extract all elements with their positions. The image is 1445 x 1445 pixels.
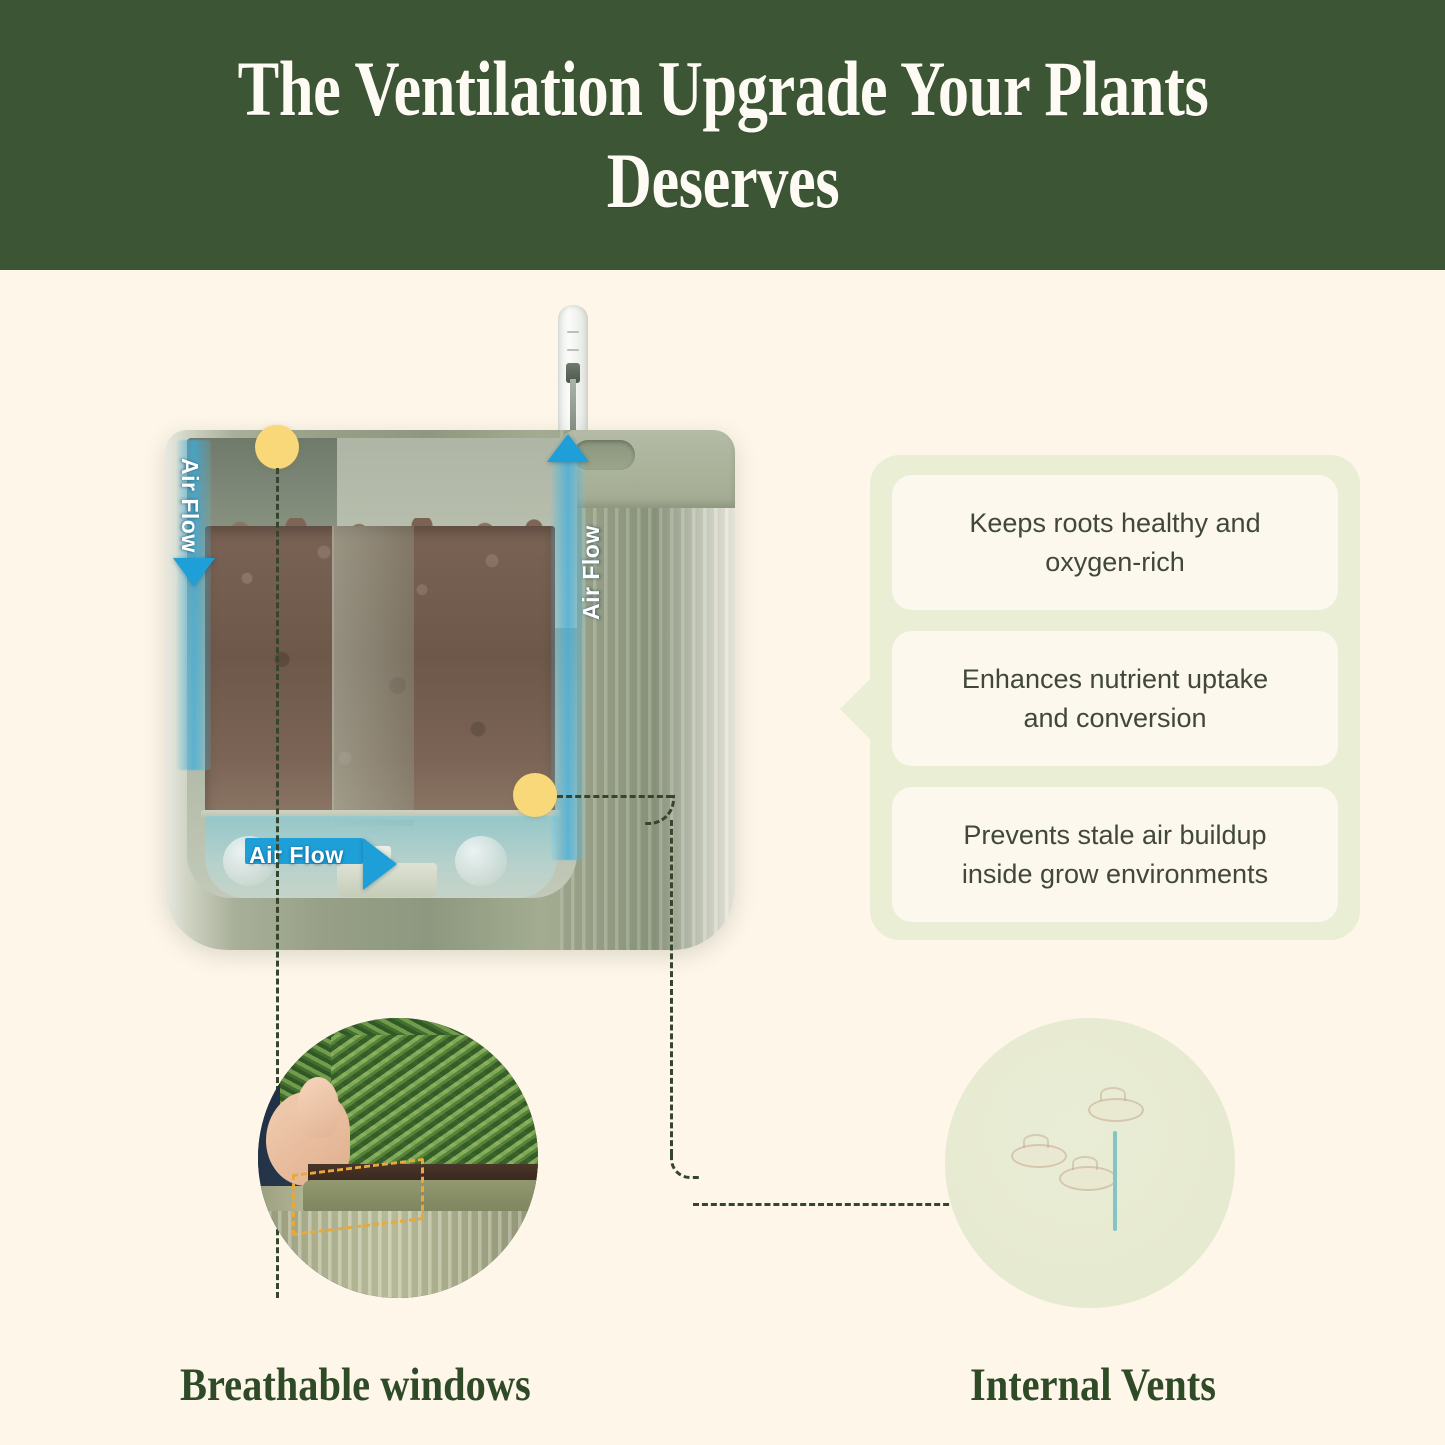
benefit-card-3[interactable]: Prevents stale air buildup inside grow e… [892, 787, 1338, 922]
inner-basket [332, 526, 414, 826]
caption-breathable-windows: Breathable windows [180, 1358, 531, 1412]
benefit-card-1-text: Keeps roots healthy and oxygen-rich [943, 504, 1286, 581]
planter-ribs [560, 430, 735, 950]
benefit-card-1[interactable]: Keeps roots healthy and oxygen-rich [892, 475, 1338, 610]
speech-bubble-tail-icon [840, 677, 872, 741]
water-level-gauge [558, 305, 588, 450]
connector-corner-vents-bottom [670, 1150, 699, 1179]
internal-vents-photo [945, 1018, 1235, 1308]
vent-nub-icon [1100, 1087, 1126, 1101]
vent-nub-icon [1072, 1156, 1098, 1170]
planter-cutaway-illustration: Air Flow Air Flow Air Flow [165, 305, 735, 1005]
page-header: The Ventilation Upgrade Your Plants Dese… [0, 0, 1445, 270]
breathable-windows-photo [258, 1018, 538, 1298]
content-stage: Air Flow Air Flow Air Flow Keeps roots h… [0, 270, 1445, 1445]
planter-interior-cavity: Air Flow [187, 438, 577, 898]
airflow-right-arrow-icon [547, 434, 589, 462]
reservoir-bulb-icon [455, 836, 507, 886]
hotspot-internal-vents[interactable] [513, 773, 557, 817]
vent-divider-line [1113, 1131, 1117, 1231]
benefits-panel: Keeps roots healthy and oxygen-rich Enha… [870, 455, 1360, 940]
gauge-tick-icon [567, 331, 579, 333]
connector-line-vents-seg2 [670, 820, 673, 1155]
airflow-bottom-arrow-icon [363, 838, 397, 890]
benefit-card-3-text: Prevents stale air buildup inside grow e… [936, 816, 1294, 893]
airflow-left-arrow-icon [173, 558, 215, 586]
photo-finger [297, 1077, 339, 1139]
benefit-card-2-text: Enhances nutrient uptake and conversion [936, 660, 1294, 737]
connector-line-vents-seg3 [693, 1203, 958, 1206]
airflow-label-left: Air Flow [176, 458, 203, 553]
caption-internal-vents: Internal Vents [970, 1358, 1216, 1412]
vent-nub-icon [1023, 1134, 1049, 1148]
benefit-card-2[interactable]: Enhances nutrient uptake and conversion [892, 631, 1338, 766]
gauge-tick-icon [567, 349, 579, 351]
vent-opening-icon [1088, 1098, 1144, 1122]
page-title: The Ventilation Upgrade Your Plants Dese… [171, 43, 1275, 227]
airflow-label-right: Air Flow [578, 525, 605, 620]
hotspot-breathable-windows[interactable] [255, 425, 299, 469]
airflow-label-bottom: Air Flow [249, 842, 344, 869]
planter-body: Air Flow Air Flow Air Flow [165, 430, 735, 950]
